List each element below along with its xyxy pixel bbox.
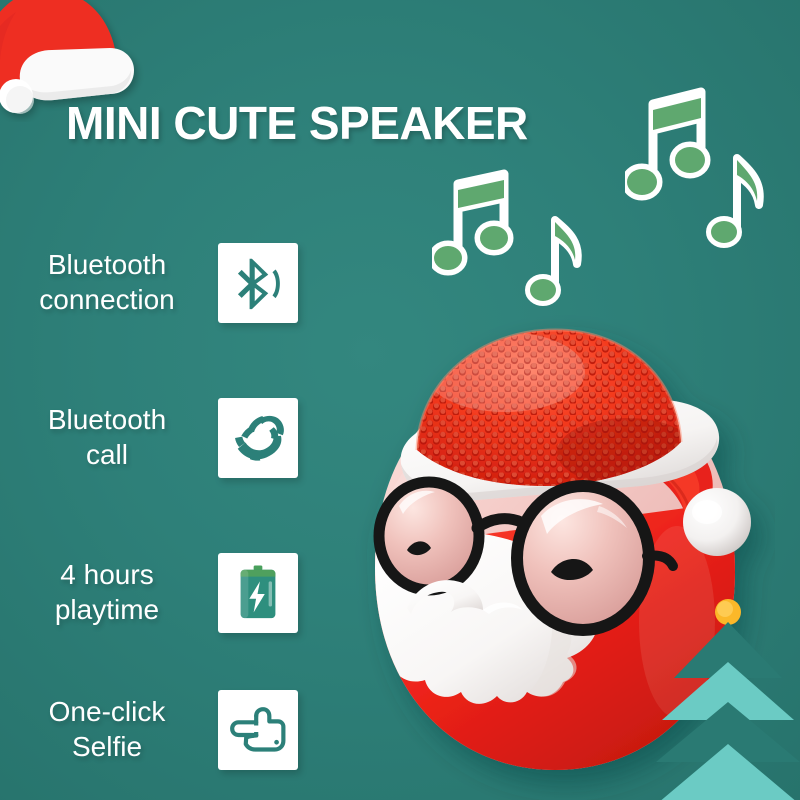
feature-item-bluetooth-connection[interactable]: Bluetooth connection [0,205,340,360]
feature-item-one-click-selfie[interactable]: One-click Selfie [0,670,340,790]
feature-label-line1: Bluetooth [0,248,214,283]
music-note-beamed-icon [432,168,516,280]
christmas-tree-icon [648,598,800,800]
feature-label-line2: Selfie [0,730,214,765]
product-infographic-poster: MINI CUTE SPEAKER [0,0,800,800]
battery-charging-icon [236,564,280,622]
feature-label-line1: One-click [0,695,214,730]
music-note-single-icon [705,148,769,252]
feature-label-line1: 4 hours [0,558,214,593]
feature-label-line1: Bluetooth [0,403,214,438]
feature-icon-container [218,690,298,770]
feature-label: One-click Selfie [0,695,218,764]
feature-label-line2: playtime [0,593,214,628]
phone-call-icon [231,411,285,465]
feature-item-bluetooth-call[interactable]: Bluetooth call [0,360,340,515]
feature-icon-container [218,553,298,633]
feature-icon-container [218,398,298,478]
pointing-hand-icon [229,704,287,756]
feature-label: 4 hours playtime [0,558,218,627]
page-title: MINI CUTE SPEAKER [66,96,528,150]
bluetooth-icon [230,255,286,311]
feature-label: Bluetooth connection [0,248,218,317]
music-note-beamed-icon [625,86,715,206]
feature-label: Bluetooth call [0,403,218,472]
feature-item-playtime[interactable]: 4 hours playtime [0,515,340,670]
feature-icon-container [218,243,298,323]
feature-list: Bluetooth connection Bluetoot [0,205,340,790]
feature-label-line2: connection [0,283,214,318]
feature-label-line2: call [0,438,214,473]
music-note-single-icon [525,210,587,308]
